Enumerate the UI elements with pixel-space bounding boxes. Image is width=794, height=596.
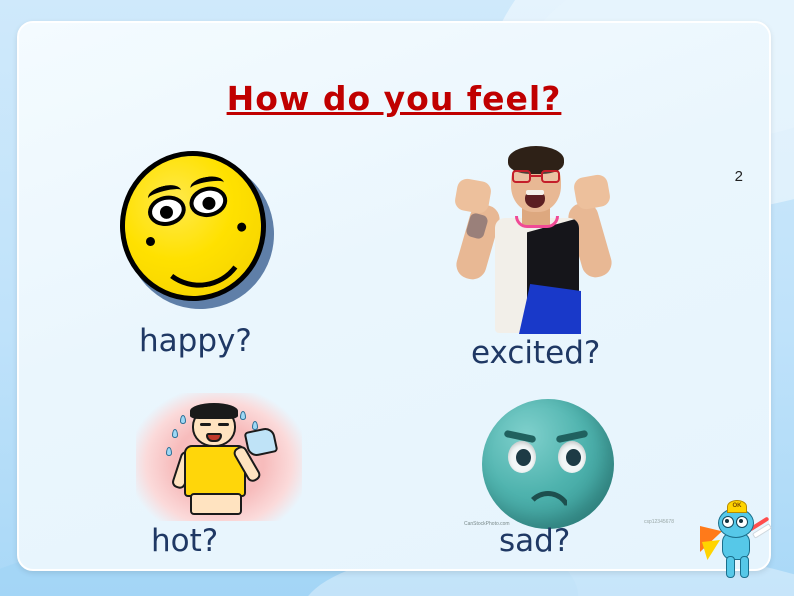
page-title: How do you feel? bbox=[19, 79, 769, 118]
hot-legs bbox=[190, 493, 242, 515]
excited-collar bbox=[515, 216, 559, 228]
sad-face-image: CanStockPhoto.com csp12345678 bbox=[482, 399, 622, 533]
mascot-leg-left bbox=[726, 556, 735, 578]
caption-sad: sad? bbox=[499, 523, 570, 559]
sad-pupil-right bbox=[566, 449, 581, 466]
hot-hair bbox=[190, 403, 238, 419]
caption-happy: happy? bbox=[139, 323, 252, 359]
excited-fist-left bbox=[453, 177, 492, 214]
sweat-drop-icon bbox=[240, 411, 246, 420]
mascot-pupil-left bbox=[725, 519, 729, 523]
mascot-pupil-right bbox=[739, 519, 743, 523]
happy-face-image bbox=[120, 151, 280, 311]
hot-eye-right bbox=[218, 423, 229, 426]
excited-teeth bbox=[526, 190, 544, 195]
mascot-badge: OK bbox=[727, 500, 747, 513]
sad-face-circle bbox=[482, 399, 614, 529]
hot-eye-left bbox=[200, 423, 211, 426]
sweat-drop-icon bbox=[166, 447, 172, 456]
image-credit-right: csp12345678 bbox=[644, 519, 674, 525]
slide: How do you feel? 2 happy? bbox=[0, 0, 794, 596]
sweat-drop-icon bbox=[180, 415, 186, 424]
excited-man-photo bbox=[423, 136, 643, 336]
sad-mouth bbox=[524, 491, 572, 517]
excited-fist-right bbox=[572, 173, 611, 210]
cartoon-mascot: OK bbox=[700, 498, 774, 584]
page-number: 2 bbox=[735, 168, 743, 185]
sweat-drop-icon bbox=[172, 429, 178, 438]
mascot-flag-yellow bbox=[702, 540, 720, 560]
glasses-icon bbox=[511, 170, 561, 183]
sweat-drop-icon bbox=[252, 421, 258, 430]
towel-icon bbox=[244, 426, 279, 458]
caption-hot: hot? bbox=[151, 523, 218, 559]
mascot-leg-right bbox=[740, 556, 749, 578]
slide-content-card: How do you feel? 2 happy? bbox=[17, 21, 771, 571]
caption-excited: excited? bbox=[471, 335, 600, 371]
sad-pupil-left bbox=[516, 449, 531, 466]
hot-boy-cartoon-image bbox=[136, 393, 302, 521]
